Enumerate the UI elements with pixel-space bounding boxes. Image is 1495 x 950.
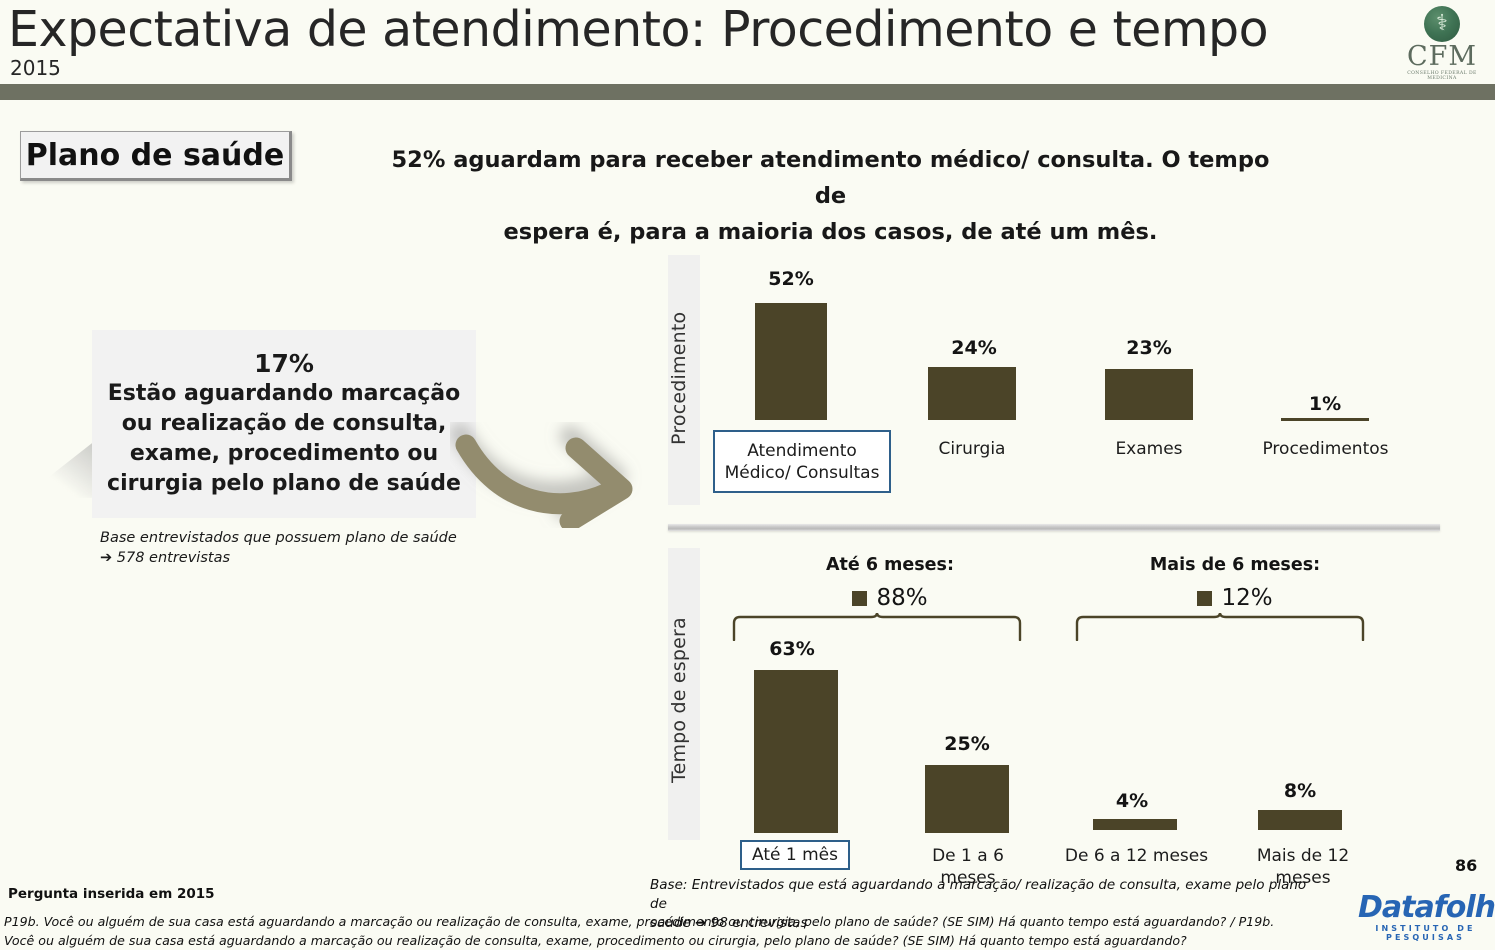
group-value-ate-6-meses: 88%: [770, 585, 1010, 611]
group-title-ate-6-meses: Até 6 meses:: [770, 555, 1010, 575]
callout-base-line-2: ➔ 578 entrevistas: [100, 548, 520, 568]
bar-value-procedimentos: 1%: [1281, 393, 1369, 415]
group-value-mais-de-6-meses: 12%: [1110, 585, 1360, 611]
callout-box: 17% Estão aguardando marcação ou realiza…: [92, 330, 476, 518]
bar-value-cirurgia: 24%: [930, 337, 1018, 359]
callout-base-line-1: Base entrevistados que possuem plano de …: [100, 528, 520, 548]
bar-procedimentos: [1281, 418, 1369, 421]
cat-label-ate-1-mes[interactable]: Até 1 mês: [740, 840, 850, 870]
page-title: Expectativa de atendimento: Procedimento…: [8, 1, 1268, 58]
footer-question-line-1: P19b. Você ou alguém de sua casa está ag…: [4, 912, 1334, 931]
callout-tail-shape: [22, 440, 96, 498]
header-divider-rule: [0, 84, 1495, 100]
bar-cirurgia: [928, 367, 1016, 420]
section-divider: [668, 524, 1440, 531]
bar-de-1-a-6-meses: [925, 765, 1009, 833]
page-number: 86: [1455, 856, 1477, 875]
cfm-wordmark: CFM: [1406, 43, 1478, 70]
slide-root: Expectativa de atendimento: Procedimento…: [0, 0, 1495, 950]
footer-question-line-2: Você ou alguém de sua casa está aguardan…: [4, 931, 1334, 950]
callout-text: Estão aguardando marcação ou realização …: [102, 379, 466, 499]
cat-label-cirurgia: Cirurgia: [908, 438, 1036, 460]
group-value-mais-de-6-meses-text: 12%: [1221, 585, 1272, 611]
caduceus-icon: ⚕: [1424, 7, 1460, 41]
brace-ate-6-meses: [730, 613, 1030, 641]
bar-value-exames: 23%: [1105, 337, 1193, 359]
footer-base-line-1: Base: Entrevistados que está aguardando …: [650, 876, 1310, 914]
bar-ate-1-mes: [754, 670, 838, 833]
bar-mais-de-12-meses: [1258, 810, 1342, 830]
cat-label-exames: Exames: [1085, 438, 1213, 460]
procedimento-axis-title: Procedimento: [668, 278, 700, 478]
bar-de-6-a-12-meses: [1093, 819, 1177, 830]
datafolha-logo: Datafolha INSTITUTO DE PESQUISAS: [1358, 893, 1493, 942]
datafolha-subtitle: INSTITUTO DE PESQUISAS: [1358, 924, 1493, 942]
cat-label-procedimentos: Procedimentos: [1253, 438, 1398, 460]
bar-value-mais-de-12-meses: 8%: [1258, 780, 1342, 802]
cfm-seal-icon: ⚕: [1424, 6, 1460, 42]
page-year: 2015: [10, 56, 61, 80]
footer-note: Pergunta inserida em 2015: [8, 886, 215, 902]
cat-label-ate-1-mes-text: Até 1 mês: [752, 844, 838, 866]
section-chip-plano-de-saude: Plano de saúde: [20, 131, 292, 181]
brace-mais-de-6-meses: [1073, 613, 1373, 641]
group-swatch-mais-de-6-meses: [1197, 591, 1212, 606]
curved-arrow-icon: [450, 393, 680, 528]
bar-value-de-6-a-12-meses: 4%: [1090, 790, 1174, 812]
headline-line-1: 52% aguardam para receber atendimento mé…: [383, 142, 1278, 214]
group-value-ate-6-meses-text: 88%: [876, 585, 927, 611]
footer-question-note: P19b. Você ou alguém de sua casa está ag…: [4, 912, 1334, 950]
cat-label-atendimento-text: Atendimento Médico/ Consultas: [715, 440, 889, 484]
group-title-mais-de-6-meses: Mais de 6 meses:: [1110, 555, 1360, 575]
group-swatch-ate-6-meses: [852, 591, 867, 606]
cat-label-de-6-a-12-meses: De 6 a 12 meses: [1064, 845, 1209, 867]
bar-atendimento: [755, 303, 827, 420]
cfm-logo: ⚕ CFM CONSELHO FEDERAL DE MEDICINA: [1406, 6, 1478, 80]
bar-exames: [1105, 369, 1193, 420]
tempo-axis-title: Tempo de espera: [668, 600, 700, 800]
headline-text: 52% aguardam para receber atendimento mé…: [383, 142, 1278, 250]
datafolha-wordmark: Datafolha: [1358, 893, 1493, 923]
cat-label-atendimento[interactable]: Atendimento Médico/ Consultas: [713, 430, 891, 493]
headline-line-2: espera é, para a maioria dos casos, de a…: [383, 214, 1278, 250]
callout-base-note: Base entrevistados que possuem plano de …: [100, 528, 520, 568]
callout-percent: 17%: [254, 349, 314, 378]
cfm-subtitle: CONSELHO FEDERAL DE MEDICINA: [1406, 71, 1478, 81]
bar-value-ate-1-mes: 63%: [751, 638, 833, 660]
bar-value-atendimento: 52%: [750, 268, 832, 290]
bar-value-de-1-a-6-meses: 25%: [925, 733, 1009, 755]
